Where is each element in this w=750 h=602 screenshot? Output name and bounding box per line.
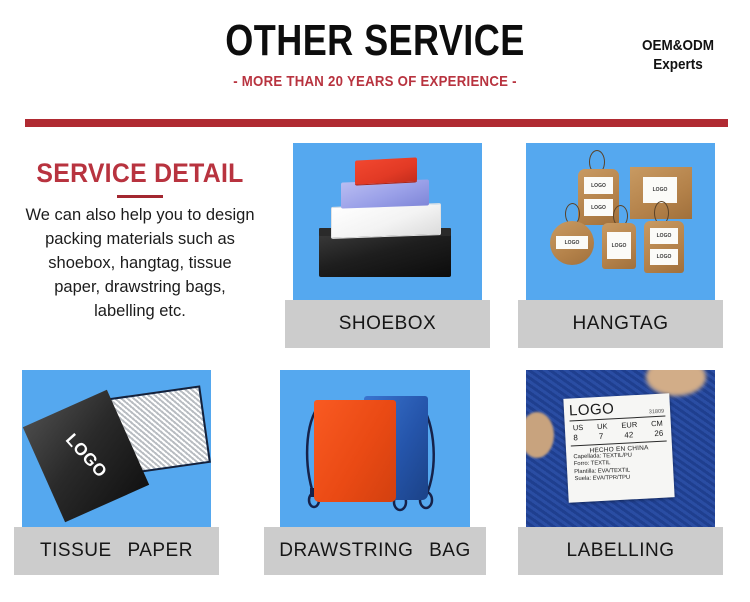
hangtag-logo-text: LOGO	[657, 253, 672, 261]
oem-odm-badge: OEM&ODM Experts	[629, 36, 726, 74]
hangtag-tall-3: LOGO LOGO	[644, 221, 684, 273]
size-header-us: US	[573, 423, 584, 433]
page-header: OTHER SERVICE - MORE THAN 20 YEARS OF EX…	[0, 0, 750, 112]
hangtag-logo-text: LOGO	[591, 182, 606, 190]
hangtag-tall-3-label-top: LOGO	[650, 228, 678, 244]
hangtag-round: LOGO	[550, 221, 594, 265]
service-detail-body: We can also help you to design packing m…	[24, 203, 256, 323]
hangtag-square-label: LOGO	[643, 177, 677, 203]
card-drawstring-bag[interactable]: DRAWSTRING BAG	[264, 370, 486, 575]
size-value-us: 8	[573, 433, 578, 442]
card-caption-shoebox: SHOEBOX	[285, 300, 490, 348]
tissue-logo-text: LOGO	[61, 430, 111, 482]
page-subtitle: - MORE THAN 20 YEARS OF EXPERIENCE -	[45, 64, 705, 90]
size-header-cm: CM	[651, 419, 663, 429]
shoebox-blue-box	[341, 179, 429, 208]
card-caption-hangtag: HANGTAG	[518, 300, 723, 348]
header-divider	[25, 119, 728, 127]
hangtag-tall-2-label: LOGO	[607, 232, 631, 259]
hangtag-tall-1-label-top: LOGO	[584, 177, 613, 194]
card-shoebox[interactable]: SHOEBOX	[285, 143, 490, 348]
hangtag-photo: LOGO LOGO LOGO LOGO LOGO	[526, 143, 715, 304]
page-title: OTHER SERVICE	[68, 0, 683, 64]
shoebox-red-box	[355, 157, 417, 184]
hangtag-tall-2: LOGO	[602, 223, 636, 269]
size-value-uk: 7	[599, 432, 604, 441]
card-caption-drawstring-bag: DRAWSTRING BAG	[264, 527, 486, 575]
shoe-label-material-4: Suela: EVA/TPR/TPU	[573, 474, 669, 484]
hangtag-round-label: LOGO	[556, 236, 588, 249]
hangtag-logo-text: LOGO	[657, 232, 672, 240]
shoe-label-code: 31809	[649, 409, 665, 416]
card-caption-labelling: LABELLING	[518, 527, 723, 575]
shoebox-white-box	[331, 203, 441, 239]
size-header-uk: UK	[597, 422, 608, 432]
hangtag-logo-text: LOGO	[653, 186, 668, 194]
shoebox-photo	[293, 143, 482, 304]
oem-odm-badge-line2: Experts	[629, 55, 726, 74]
labelling-photo: LOGO 31809 US UK EUR CM 8 7 42 26 HECHO …	[526, 370, 715, 531]
card-labelling[interactable]: LOGO 31809 US UK EUR CM 8 7 42 26 HECHO …	[518, 370, 723, 575]
service-detail-title: SERVICE DETAIL	[33, 158, 246, 188]
hangtag-logo-text: LOGO	[565, 239, 580, 247]
hangtag-tall-1-label-bottom: LOGO	[584, 199, 613, 216]
card-tissue-paper[interactable]: LOGO TISSUE PAPER	[14, 370, 219, 575]
size-header-eur: EUR	[621, 420, 637, 430]
service-detail-rule	[117, 195, 163, 198]
shoebox-black-box	[319, 233, 451, 277]
size-value-eur: 42	[624, 430, 633, 439]
oem-odm-badge-line1: OEM&ODM	[629, 36, 726, 55]
card-hangtag[interactable]: LOGO LOGO LOGO LOGO LOGO	[518, 143, 723, 348]
service-detail-block: SERVICE DETAIL We can also help you to d…	[24, 158, 256, 323]
drawstring-bag-photo	[280, 370, 470, 531]
hangtag-tall-3-label-bottom: LOGO	[650, 249, 678, 265]
shoe-size-label: LOGO 31809 US UK EUR CM 8 7 42 26 HECHO …	[563, 393, 674, 502]
drawstring-bag-orange	[314, 400, 396, 502]
card-caption-tissue-paper: TISSUE PAPER	[14, 527, 219, 575]
tissue-paper-photo: LOGO	[22, 370, 211, 531]
hangtag-logo-text: LOGO	[612, 242, 627, 250]
size-value-cm: 26	[654, 429, 663, 438]
hangtag-logo-text: LOGO	[591, 204, 606, 212]
